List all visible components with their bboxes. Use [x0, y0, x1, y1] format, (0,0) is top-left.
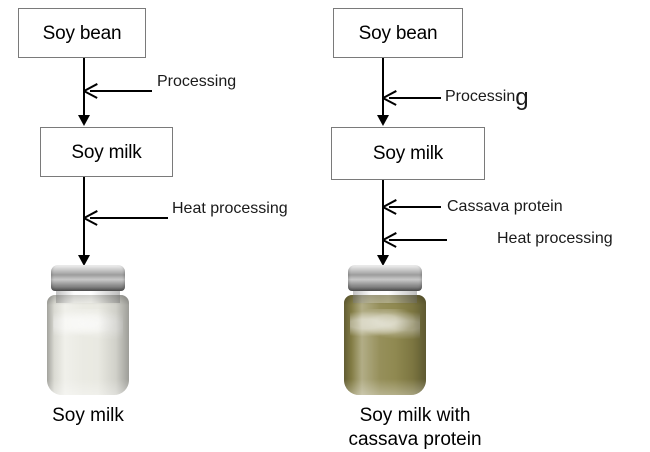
arrowhead-left-icon — [383, 199, 397, 215]
node-label: Soy bean — [43, 24, 122, 43]
diagram-canvas: Soy bean Processing Soy milk Heat proces… — [0, 0, 650, 450]
inbound-line-heat-processing-left — [90, 217, 168, 219]
arrowhead-left-icon — [383, 90, 397, 106]
caption-soy-milk: Soy milk — [18, 404, 158, 428]
arrowhead-left-icon — [84, 210, 98, 226]
connector-beans-to-milk-right — [382, 58, 384, 118]
node-soy-bean-left: Soy bean — [18, 8, 146, 58]
edge-label-cassava-protein: Cassava protein — [447, 199, 563, 215]
jar-lid — [51, 265, 125, 291]
jar-body — [344, 295, 426, 395]
inbound-line-processing-left — [90, 90, 152, 92]
connector-milk-to-product-right — [382, 180, 384, 263]
node-label: Soy bean — [359, 24, 438, 43]
edge-label-heat-processing-right: Heat processing — [497, 231, 613, 247]
edge-label-text: Processin — [445, 88, 515, 105]
node-soy-milk-right: Soy milk — [331, 127, 485, 180]
arrowhead-left-icon — [84, 83, 98, 99]
arrowhead-down-icon — [78, 115, 90, 126]
jar-base-highlight — [47, 379, 129, 395]
jar-body — [47, 295, 129, 395]
jar-lid — [348, 265, 422, 291]
edge-label-heat-processing-left: Heat processing — [172, 201, 288, 217]
node-soy-milk-left: Soy milk — [40, 127, 173, 177]
edge-label-processing-right: Processing — [445, 89, 529, 105]
node-label: Soy milk — [71, 143, 141, 162]
arrowhead-down-icon — [377, 115, 389, 126]
product-jar-soy-milk — [45, 265, 131, 397]
edge-label-trailing-glyph: g — [515, 84, 528, 111]
caption-soy-milk-cassava-line2: cassava protein — [300, 428, 530, 452]
inbound-line-heat-processing-right — [389, 239, 447, 241]
arrowhead-left-icon — [383, 232, 397, 248]
edge-label-processing-left: Processing — [157, 74, 236, 90]
node-soy-bean-right: Soy bean — [333, 8, 463, 58]
node-label: Soy milk — [373, 144, 443, 163]
product-jar-soy-milk-cassava — [342, 265, 428, 397]
jar-base-highlight — [344, 379, 426, 395]
caption-soy-milk-cassava-line1: Soy milk with — [300, 404, 530, 428]
